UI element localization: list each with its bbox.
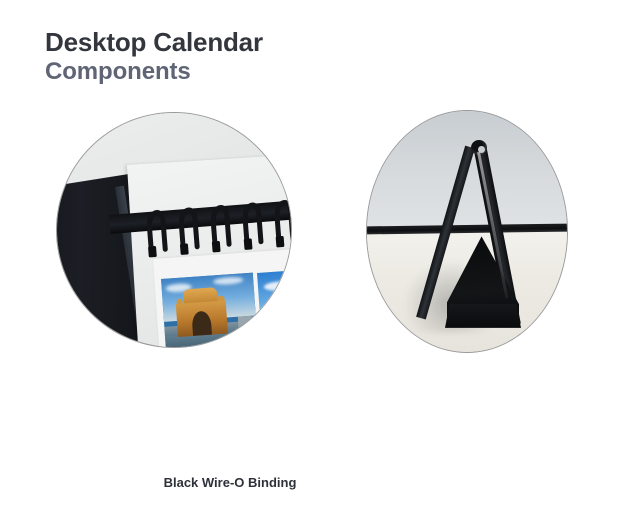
wire-o-ring-1 bbox=[141, 193, 172, 259]
component-panel-colour-stand: Black Colour Stand (Premium Hard Fusion … bbox=[366, 110, 568, 353]
title-line-primary: Desktop Calendar bbox=[45, 28, 263, 57]
wire-o-binding-image bbox=[57, 113, 291, 347]
title-line-secondary: Components bbox=[45, 59, 263, 86]
wire-o-binding-photo bbox=[56, 112, 292, 348]
secondary-sky-photo bbox=[257, 268, 291, 345]
component-panel-wire-o-binding: Black Wire-O Binding bbox=[56, 112, 292, 348]
colour-stand-image bbox=[367, 111, 567, 352]
stand-base bbox=[445, 304, 521, 328]
sky-cloud-1 bbox=[264, 280, 291, 291]
page-title: Desktop Calendar Components bbox=[45, 28, 263, 86]
wire-o-ring-4 bbox=[237, 185, 268, 251]
caption-line-1: Black Wire-O Binding bbox=[92, 474, 368, 492]
wire-o-ring-3 bbox=[205, 188, 236, 254]
wire-o-ring-2 bbox=[173, 190, 204, 256]
wire-o-ring-5 bbox=[269, 183, 291, 249]
gateway-of-india-photo bbox=[161, 273, 258, 347]
photo-background-building bbox=[237, 315, 253, 331]
colour-stand-photo bbox=[366, 110, 568, 353]
gateway-monument bbox=[175, 288, 228, 337]
caption-wire-o-binding: Black Wire-O Binding bbox=[92, 474, 368, 492]
